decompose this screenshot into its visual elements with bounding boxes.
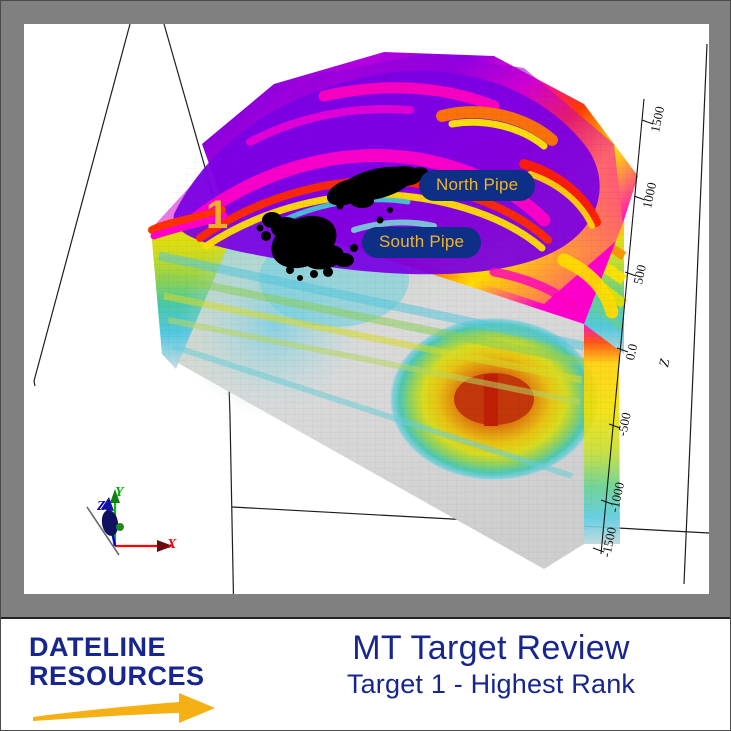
arrow-right-swoosh-icon bbox=[29, 691, 229, 725]
company-logo[interactable]: DATELINE RESOURCES bbox=[29, 633, 269, 691]
triad-x-label: X bbox=[167, 537, 176, 553]
triad-y-label: Y bbox=[115, 485, 124, 501]
footer-titles: MT Target Review Target 1 - Highest Rank bbox=[271, 629, 711, 700]
logo-line-1: DATELINE bbox=[29, 633, 269, 662]
orientation-triad[interactable]: X Y Z bbox=[79, 479, 199, 574]
triad-z-label: Z bbox=[97, 499, 106, 515]
viewport-frame: North Pipe South Pipe 1 bbox=[1, 1, 731, 617]
slide-canvas: North Pipe South Pipe 1 bbox=[0, 0, 731, 731]
logo-line-2: RESOURCES bbox=[29, 662, 269, 691]
slide-title: MT Target Review bbox=[271, 629, 711, 668]
slide-subtitle: Target 1 - Highest Rank bbox=[271, 668, 711, 700]
model-viewport[interactable]: North Pipe South Pipe 1 bbox=[24, 24, 709, 594]
slide-footer: DATELINE RESOURCES MT Target Review Targ… bbox=[1, 617, 731, 731]
z-tick-0: 0.0 bbox=[622, 342, 641, 361]
